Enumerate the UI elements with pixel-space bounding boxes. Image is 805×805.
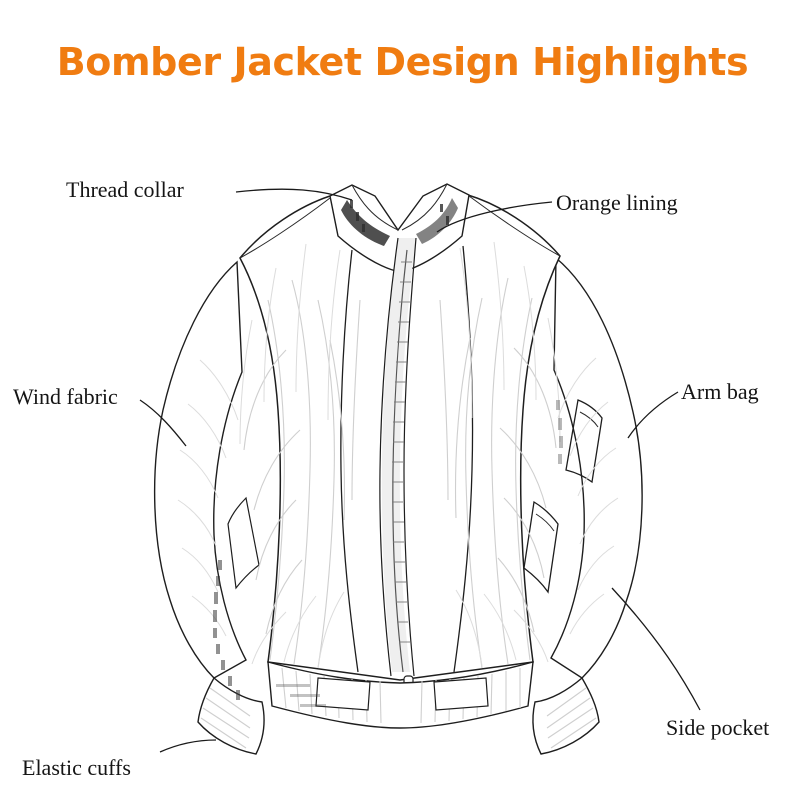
callout-label-wind-fabric: Wind fabric — [13, 384, 118, 410]
diagram-page: Bomber Jacket Design Highlights — [0, 0, 805, 805]
callout-label-thread-collar: Thread collar — [66, 177, 184, 203]
callout-label-orange-lining: Orange lining — [556, 190, 678, 216]
callout-label-arm-bag: Arm bag — [681, 379, 759, 405]
jacket-artwork — [155, 184, 642, 754]
callout-label-elastic-cuffs: Elastic cuffs — [22, 755, 131, 781]
leader-elastic-cuffs — [160, 740, 216, 752]
callout-label-side-pocket: Side pocket — [666, 715, 769, 741]
